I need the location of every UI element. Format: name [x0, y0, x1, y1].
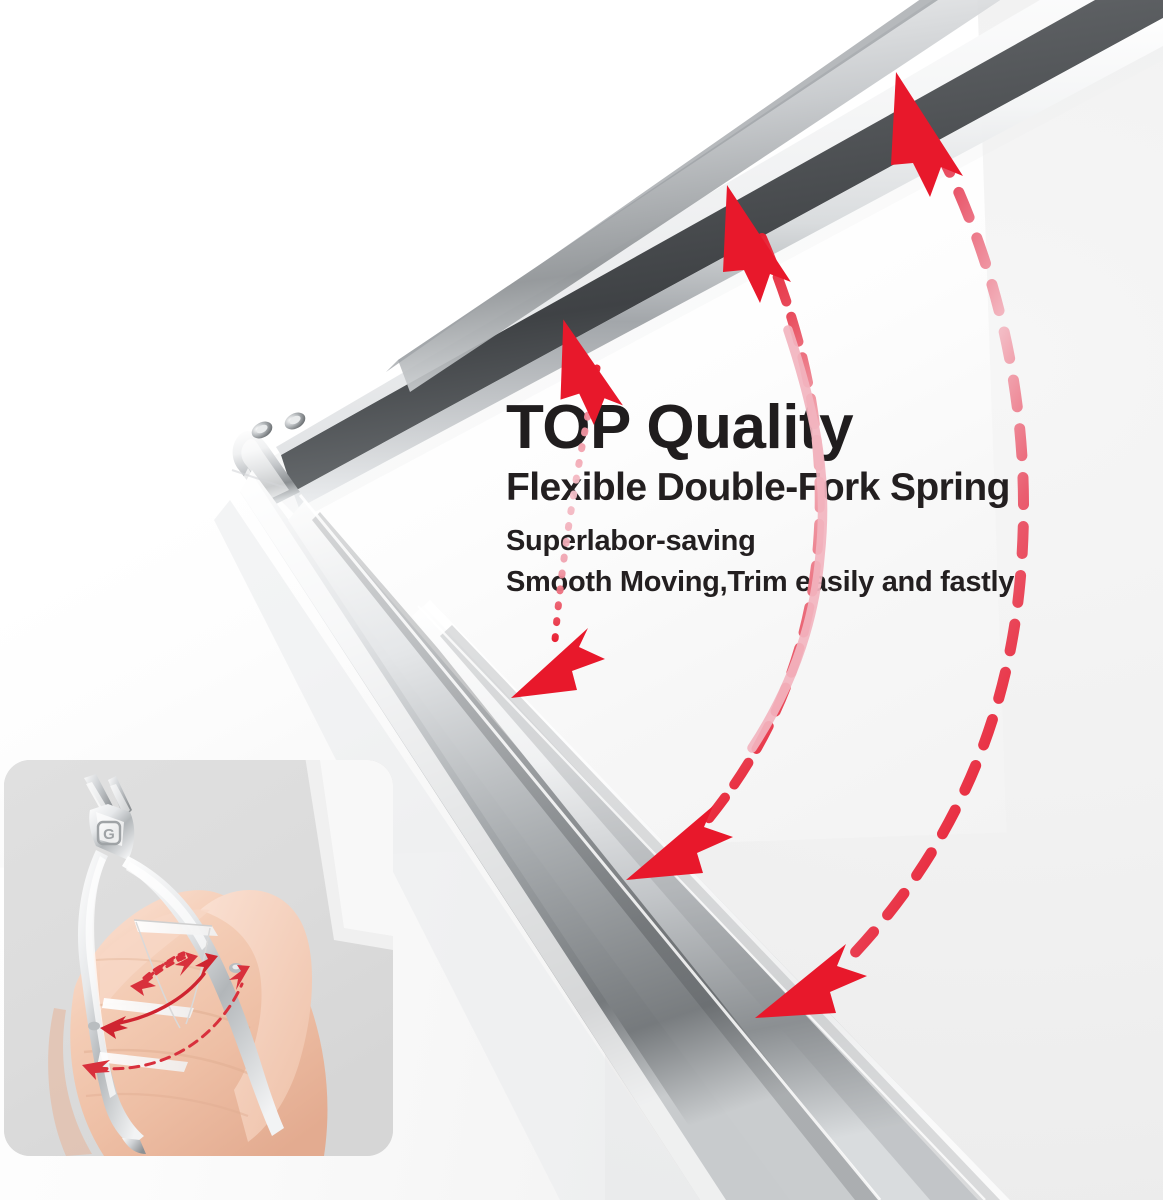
headline-block: TOP Quality Flexible Double-Fork Spring … [506, 396, 1106, 604]
headline-title: TOP Quality [506, 396, 1106, 459]
headline-bullet-1: Superlabor-saving [506, 521, 1106, 562]
headline-bullets: Superlabor-saving Smooth Moving,Trim eas… [506, 521, 1106, 603]
hand-grip-demo-inset: G [4, 760, 393, 1156]
headline-subtitle: Flexible Double-Fork Spring [506, 465, 1106, 511]
product-feature-image: TOP Quality Flexible Double-Fork Spring … [0, 0, 1163, 1200]
headline-bullet-2: Smooth Moving,Trim easily and fastly [506, 562, 1106, 603]
brand-mark-glyph: G [103, 826, 115, 843]
